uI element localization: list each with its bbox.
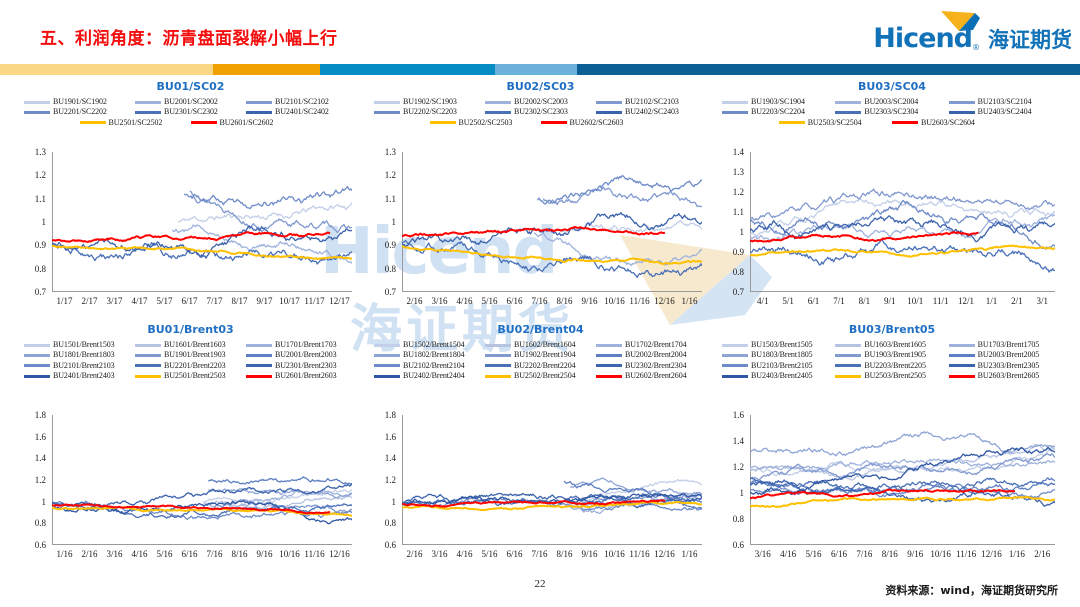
legend-label: BU2501/SC2502 (109, 119, 163, 127)
legend-label: BU2603/Brent2605 (978, 372, 1040, 380)
legend-swatch (485, 375, 511, 378)
legend-item[interactable]: BU2201/SC2202 (24, 107, 135, 117)
chart-cell: BU01/SC02BU1901/SC1902BU2001/SC2002BU210… (18, 80, 363, 320)
band-segment (577, 64, 1080, 75)
legend-label: BU1502/Brent1504 (403, 341, 465, 349)
legend-item[interactable]: BU2001/Brent2003 (246, 350, 357, 360)
legend-item[interactable]: BU1502/Brent1504 (374, 340, 485, 350)
chart-plot-area: 0.60.811.21.41.61.81/162/163/164/165/166… (18, 415, 363, 569)
x-axis-tick-label: 12/16 (981, 549, 1002, 559)
legend-label: BU2402/Brent2404 (403, 372, 465, 380)
legend-label: BU2603/SC2604 (921, 119, 975, 127)
legend-item[interactable]: BU1903/SC1904 (722, 97, 835, 107)
legend-swatch (949, 375, 975, 378)
legend-swatch (485, 344, 511, 347)
legend-swatch (246, 101, 272, 104)
legend-swatch (949, 364, 975, 367)
legend-item[interactable]: BU1901/Brent1903 (135, 350, 246, 360)
chart-legend: BU1901/SC1902BU2001/SC2002BU2101/SC2102B… (18, 97, 363, 128)
legend-label: BU2401/SC2402 (275, 108, 329, 116)
legend-swatch (246, 354, 272, 357)
y-axis-tick-label: 1.2 (716, 462, 744, 472)
charts-grid: BU01/SC02BU1901/SC1902BU2001/SC2002BU210… (0, 80, 1080, 575)
x-axis-tick-label: 10/16 (604, 549, 625, 559)
chart-title: BU02/SC03 (368, 80, 713, 93)
legend-swatch (949, 111, 975, 114)
legend-swatch (892, 121, 918, 124)
legend-label: BU2203/SC2204 (751, 108, 805, 116)
chart-series-line (750, 200, 1055, 249)
legend-swatch (24, 364, 50, 367)
legend-item[interactable]: BU2102/Brent2104 (374, 361, 485, 371)
y-axis-tick-label: 0.9 (18, 240, 46, 250)
chart-cell: BU02/Brent04BU1502/Brent1504BU1602/Brent… (368, 323, 713, 573)
y-axis-tick-label: 0.8 (716, 267, 744, 277)
legend-label: BU2201/SC2202 (53, 108, 107, 116)
chart-legend: BU1501/Brent1503BU1601/Brent1603BU1701/B… (18, 340, 363, 382)
legend-item[interactable]: BU2502/Brent2504 (485, 371, 596, 381)
legend-item[interactable]: BU1802/Brent1804 (374, 350, 485, 360)
legend-item[interactable]: BU2302/Brent2304 (596, 361, 707, 371)
legend-item[interactable]: BU2003/SC2004 (835, 97, 948, 107)
legend-swatch (722, 111, 748, 114)
legend-label: BU2102/SC2103 (625, 98, 679, 106)
legend-item[interactable]: BU1601/Brent1603 (135, 340, 246, 350)
legend-label: BU2303/SC2304 (864, 108, 918, 116)
x-axis-tick-label: 6/16 (181, 549, 197, 559)
y-axis-tick-label: 1.4 (18, 453, 46, 463)
legend-item[interactable]: BU2002/Brent2004 (596, 350, 707, 360)
legend-label: BU1501/Brent1503 (53, 341, 115, 349)
legend-label: BU2601/Brent2603 (275, 372, 337, 380)
legend-swatch (779, 121, 805, 124)
legend-item[interactable]: BU2401/Brent2403 (24, 371, 135, 381)
legend-item[interactable]: BU2503/SC2504 (779, 118, 892, 128)
legend-label: BU1702/Brent1704 (625, 341, 687, 349)
legend-item[interactable]: BU1603/Brent1605 (835, 340, 948, 350)
legend-swatch (246, 344, 272, 347)
x-axis-tick-label: 3/17 (106, 296, 122, 306)
y-axis-tick-label: 1.4 (368, 453, 396, 463)
legend-swatch (374, 354, 400, 357)
x-axis-tick-label: 7/1 (833, 296, 845, 306)
x-axis-tick-label: 11/16 (629, 296, 649, 306)
y-axis-tick-label: 0.8 (18, 518, 46, 528)
legend-swatch (374, 375, 400, 378)
legend-item[interactable]: BU2403/SC2404 (949, 107, 1062, 117)
legend-item[interactable]: BU2303/Brent2305 (949, 361, 1062, 371)
chart-title: BU02/Brent04 (368, 323, 713, 336)
legend-item[interactable]: BU1501/Brent1503 (24, 340, 135, 350)
logo-swoosh-icon (939, 10, 981, 32)
legend-item[interactable]: BU1903/Brent1905 (835, 350, 948, 360)
chart-series-line (52, 242, 352, 263)
x-axis-tick-label: 5/17 (156, 296, 172, 306)
legend-label: BU1601/Brent1603 (164, 341, 226, 349)
legend-label: BU2302/Brent2304 (625, 362, 687, 370)
y-axis-tick-label: 1.2 (18, 475, 46, 485)
x-axis-tick-label: 8/16 (882, 549, 898, 559)
legend-swatch (80, 121, 106, 124)
y-axis-tick-label: 0.6 (18, 540, 46, 550)
band-segment (495, 64, 577, 75)
legend-label: BU2303/Brent2305 (978, 362, 1040, 370)
y-axis-tick-label: 1.6 (716, 410, 744, 420)
legend-label: BU2101/Brent2103 (53, 362, 115, 370)
legend-item[interactable]: BU1902/SC1903 (374, 97, 485, 107)
chart-cell: BU03/Brent05BU1503/Brent1505BU1603/Brent… (716, 323, 1068, 573)
legend-swatch (135, 364, 161, 367)
x-axis-tick-label: 7/16 (531, 296, 547, 306)
x-axis-tick-label: 1/1 (986, 296, 998, 306)
legend-swatch (374, 364, 400, 367)
y-axis-tick-label: 1.2 (716, 187, 744, 197)
legend-swatch (835, 111, 861, 114)
legend-label: BU2301/SC2302 (164, 108, 218, 116)
y-axis-tick-label: 1.2 (18, 170, 46, 180)
y-axis-tick-label: 0.9 (368, 240, 396, 250)
legend-item[interactable]: BU2503/Brent2505 (835, 371, 948, 381)
y-axis-tick-label: 1 (368, 497, 396, 507)
legend-swatch (596, 364, 622, 367)
header-color-band (0, 64, 1080, 75)
legend-item[interactable]: BU2603/Brent2605 (949, 371, 1062, 381)
slide-header: 五、利润角度：沥青盘面裂解小幅上行 Hicend® 海证期货 (0, 0, 1080, 58)
chart-canvas (750, 152, 1055, 292)
chart-plot-area: 0.70.80.911.11.21.31.44/15/16/17/18/19/1… (716, 152, 1068, 316)
legend-swatch (24, 354, 50, 357)
legend-label: BU2403/SC2404 (978, 108, 1032, 116)
chart-title: BU03/Brent05 (716, 323, 1068, 336)
legend-swatch (541, 121, 567, 124)
legend-label: BU2003/SC2004 (864, 98, 918, 106)
legend-swatch (135, 101, 161, 104)
x-axis-tick-label: 1/16 (681, 296, 697, 306)
legend-swatch (191, 121, 217, 124)
x-axis-tick-label: 12/16 (654, 549, 675, 559)
x-axis-tick-label: 12/16 (329, 549, 350, 559)
legend-label: BU2202/SC2203 (403, 108, 457, 116)
x-axis-tick-label: 1/16 (1009, 549, 1025, 559)
x-axis-tick-label: 6/16 (506, 549, 522, 559)
x-axis-tick-label: 1/17 (56, 296, 72, 306)
legend-item[interactable]: BU2101/SC2102 (246, 97, 357, 107)
x-axis-tick-label: 10/1 (907, 296, 923, 306)
band-segment (320, 64, 495, 75)
y-axis-tick-label: 0.8 (368, 264, 396, 274)
legend-item[interactable]: BU1902/Brent1904 (485, 350, 596, 360)
legend-item[interactable]: BU1701/Brent1703 (246, 340, 357, 350)
legend-item[interactable]: BU2401/SC2402 (246, 107, 357, 117)
y-axis-tick-label: 0.8 (18, 264, 46, 274)
x-axis-tick-label: 5/16 (806, 549, 822, 559)
legend-label: BU2202/Brent2204 (514, 362, 576, 370)
legend-swatch (24, 344, 50, 347)
x-axis-tick-label: 5/1 (782, 296, 794, 306)
legend-item[interactable]: BU2502/SC2503 (430, 118, 541, 128)
chart-series-line (178, 202, 352, 221)
legend-label: BU2302/SC2303 (514, 108, 568, 116)
chart-legend: BU1903/SC1904BU2003/SC2004BU2103/SC2104B… (716, 97, 1068, 128)
chart-plot-area: 0.60.811.21.41.63/164/165/166/167/168/16… (716, 415, 1068, 569)
legend-label: BU2301/Brent2303 (275, 362, 337, 370)
x-axis-tick-label: 11/17 (304, 296, 324, 306)
y-axis-tick-label: 1.4 (716, 147, 744, 157)
legend-label: BU2203/Brent2205 (864, 362, 926, 370)
legend-label: BU2002/SC2003 (514, 98, 568, 106)
legend-swatch (485, 364, 511, 367)
y-axis-tick-label: 1.2 (368, 475, 396, 485)
legend-swatch (485, 354, 511, 357)
legend-label: BU2502/Brent2504 (514, 372, 576, 380)
legend-swatch (374, 344, 400, 347)
x-axis-tick-label: 2/1 (1011, 296, 1023, 306)
chart-canvas (402, 415, 702, 545)
legend-item[interactable]: BU2402/Brent2404 (374, 371, 485, 381)
chart-series-line (750, 478, 1055, 490)
x-axis-tick-label: 2/16 (406, 296, 422, 306)
x-axis-tick-label: 8/1 (859, 296, 871, 306)
legend-swatch (835, 364, 861, 367)
x-axis-tick-label: 7/16 (531, 549, 547, 559)
x-axis-tick-label: 6/16 (506, 296, 522, 306)
legend-item[interactable]: BU2103/Brent2105 (722, 361, 835, 371)
legend-item[interactable]: BU2601/Brent2603 (246, 371, 357, 381)
y-axis-tick-label: 1 (18, 497, 46, 507)
x-axis-tick-label: 10/17 (279, 296, 300, 306)
legend-item[interactable]: BU2402/SC2403 (596, 107, 707, 117)
x-axis-tick-label: 11/1 (933, 296, 949, 306)
chart-series-line (52, 226, 352, 258)
chart-cell: BU03/SC04BU1903/SC1904BU2003/SC2004BU210… (716, 80, 1068, 320)
band-segment (213, 64, 320, 75)
y-axis-tick-label: 0.7 (716, 287, 744, 297)
legend-swatch (835, 344, 861, 347)
legend-label: BU2001/SC2002 (164, 98, 218, 106)
legend-swatch (135, 354, 161, 357)
legend-swatch (246, 375, 272, 378)
legend-swatch (135, 375, 161, 378)
legend-swatch (135, 111, 161, 114)
legend-swatch (24, 101, 50, 104)
y-axis-tick-label: 1.2 (368, 170, 396, 180)
legend-item[interactable]: BU2601/SC2602 (191, 118, 302, 128)
y-axis-tick-label: 1.6 (18, 432, 46, 442)
chart-series-line (750, 432, 1055, 456)
legend-swatch (485, 111, 511, 114)
legend-label: BU2401/Brent2403 (53, 372, 115, 380)
x-axis-tick-label: 9/16 (256, 549, 272, 559)
y-axis-tick-label: 0.8 (716, 514, 744, 524)
chart-plot-area: 0.70.80.911.11.21.31/172/173/174/175/176… (18, 152, 363, 316)
legend-label: BU2201/Brent2203 (164, 362, 226, 370)
legend-label: BU1802/Brent1804 (403, 351, 465, 359)
legend-swatch (135, 344, 161, 347)
legend-label: BU1902/Brent1904 (514, 351, 576, 359)
x-axis-tick-label: 11/16 (956, 549, 976, 559)
legend-label: BU2502/SC2503 (459, 119, 513, 127)
legend-item[interactable]: BU1901/SC1902 (24, 97, 135, 107)
legend-swatch (246, 364, 272, 367)
legend-label: BU1903/SC1904 (751, 98, 805, 106)
legend-swatch (835, 375, 861, 378)
legend-item[interactable]: BU1602/Brent1604 (485, 340, 596, 350)
legend-swatch (596, 111, 622, 114)
legend-swatch (24, 375, 50, 378)
legend-swatch (596, 375, 622, 378)
y-axis-tick-label: 0.6 (368, 540, 396, 550)
legend-item[interactable]: BU2202/SC2203 (374, 107, 485, 117)
x-axis-tick-label: 7/16 (206, 549, 222, 559)
x-axis-tick-label: 11/16 (304, 549, 324, 559)
chart-title: BU01/Brent03 (18, 323, 363, 336)
x-axis-tick-label: 7/16 (856, 549, 872, 559)
chart-series-line (184, 187, 352, 209)
legend-item[interactable]: BU1703/Brent1705 (949, 340, 1062, 350)
logo-wordmark: Hicend® (873, 25, 979, 52)
x-axis-tick-label: 9/16 (581, 296, 597, 306)
chart-canvas (52, 415, 352, 545)
chart-canvas (402, 152, 702, 292)
y-axis-tick-label: 0.7 (368, 287, 396, 297)
y-axis-tick-label: 1 (18, 217, 46, 227)
x-axis-tick-label: 6/1 (808, 296, 820, 306)
x-axis-tick-label: 8/16 (231, 549, 247, 559)
legend-swatch (596, 101, 622, 104)
legend-item[interactable]: BU2002/SC2003 (485, 97, 596, 107)
legend-item[interactable]: BU1803/Brent1805 (722, 350, 835, 360)
x-axis-tick-label: 1/16 (681, 549, 697, 559)
x-axis-tick-label: 9/16 (581, 549, 597, 559)
legend-label: BU2403/Brent2405 (751, 372, 813, 380)
y-axis-tick-label: 0.6 (716, 540, 744, 550)
page-title: 五、利润角度：沥青盘面裂解小幅上行 (40, 24, 338, 49)
legend-label: BU2003/Brent2005 (978, 351, 1040, 359)
legend-label: BU2001/Brent2003 (275, 351, 337, 359)
legend-swatch (835, 101, 861, 104)
legend-item[interactable]: BU2301/SC2302 (135, 107, 246, 117)
x-axis-tick-label: 9/1 (884, 296, 896, 306)
legend-item[interactable]: BU1702/Brent1704 (596, 340, 707, 350)
legend-swatch (949, 354, 975, 357)
x-axis-tick-label: 4/16 (131, 549, 147, 559)
legend-label: BU1703/Brent1705 (978, 341, 1040, 349)
legend-label: BU2501/Brent2503 (164, 372, 226, 380)
chart-legend: BU1502/Brent1504BU1602/Brent1604BU1702/B… (368, 340, 713, 382)
legend-swatch (485, 101, 511, 104)
x-axis-tick-label: 6/17 (181, 296, 197, 306)
legend-swatch (430, 121, 456, 124)
chart-series-line (208, 477, 352, 485)
legend-swatch (722, 354, 748, 357)
legend-swatch (246, 111, 272, 114)
legend-item[interactable]: BU2501/SC2502 (80, 118, 191, 128)
legend-label: BU2103/Brent2105 (751, 362, 813, 370)
legend-swatch (722, 101, 748, 104)
legend-item[interactable]: BU2202/Brent2204 (485, 361, 596, 371)
legend-item[interactable]: BU2603/SC2604 (892, 118, 1005, 128)
y-axis-tick-label: 0.7 (18, 287, 46, 297)
y-axis-tick-label: 1.3 (368, 147, 396, 157)
legend-swatch (835, 354, 861, 357)
x-axis-tick-label: 8/16 (556, 549, 572, 559)
legend-item[interactable]: BU2101/Brent2103 (24, 361, 135, 371)
legend-item[interactable]: BU2602/Brent2604 (596, 371, 707, 381)
legend-item[interactable]: BU2501/Brent2503 (135, 371, 246, 381)
x-axis-tick-label: 5/16 (481, 296, 497, 306)
legend-item[interactable]: BU2602/SC2603 (541, 118, 652, 128)
chart-cell: BU01/Brent03BU1501/Brent1503BU1601/Brent… (18, 323, 363, 573)
legend-label: BU2002/Brent2004 (625, 351, 687, 359)
legend-item[interactable]: BU2301/Brent2303 (246, 361, 357, 371)
x-axis-tick-label: 2/17 (81, 296, 97, 306)
legend-item[interactable]: BU2003/Brent2005 (949, 350, 1062, 360)
legend-label: BU1603/Brent1605 (864, 341, 926, 349)
legend-item[interactable]: BU2203/Brent2205 (835, 361, 948, 371)
x-axis-tick-label: 8/17 (231, 296, 247, 306)
legend-item[interactable]: BU2103/SC2104 (949, 97, 1062, 107)
chart-series-line (208, 489, 352, 498)
y-axis-tick-label: 0.8 (368, 518, 396, 528)
x-axis-tick-label: 3/16 (755, 549, 771, 559)
legend-item[interactable]: BU2201/Brent2203 (135, 361, 246, 371)
y-axis-tick-label: 1.8 (368, 410, 396, 420)
x-axis-tick-label: 6/16 (831, 549, 847, 559)
y-axis-tick-label: 1.1 (368, 194, 396, 204)
chart-series-line (750, 497, 1055, 507)
legend-item[interactable]: BU2203/SC2204 (722, 107, 835, 117)
x-axis-tick-label: 3/16 (431, 549, 447, 559)
chart-cell: BU02/SC03BU1902/SC1903BU2002/SC2003BU210… (368, 80, 713, 320)
x-axis-tick-label: 9/16 (907, 549, 923, 559)
band-segment (0, 64, 213, 75)
legend-label: BU2101/SC2102 (275, 98, 329, 106)
legend-label: BU1503/Brent1505 (751, 341, 813, 349)
legend-swatch (949, 101, 975, 104)
legend-label: BU1901/SC1902 (53, 98, 107, 106)
legend-item[interactable]: BU2102/SC2103 (596, 97, 707, 107)
legend-label: BU1803/Brent1805 (751, 351, 813, 359)
y-axis-tick-label: 1.8 (18, 410, 46, 420)
x-axis-tick-label: 12/1 (958, 296, 974, 306)
chart-title: BU03/SC04 (716, 80, 1068, 93)
chart-plot-area: 0.70.80.911.11.21.32/163/164/165/166/167… (368, 152, 713, 316)
legend-item[interactable]: BU1503/Brent1505 (722, 340, 835, 350)
legend-swatch (24, 111, 50, 114)
x-axis-tick-label: 10/16 (279, 549, 300, 559)
y-axis-tick-label: 1.3 (716, 167, 744, 177)
logo-registered-icon: ® (972, 43, 979, 52)
chart-canvas (52, 152, 352, 292)
x-axis-tick-label: 5/16 (156, 549, 172, 559)
chart-plot-area: 0.60.811.21.41.61.82/163/164/165/166/167… (368, 415, 713, 569)
x-axis-tick-label: 7/17 (206, 296, 222, 306)
legend-label: BU2402/SC2403 (625, 108, 679, 116)
x-axis-tick-label: 3/1 (1037, 296, 1049, 306)
x-axis-tick-label: 10/16 (930, 549, 951, 559)
legend-item[interactable]: BU2001/SC2002 (135, 97, 246, 107)
legend-item[interactable]: BU1801/Brent1803 (24, 350, 135, 360)
legend-swatch (949, 344, 975, 347)
y-axis-tick-label: 1.1 (716, 207, 744, 217)
legend-item[interactable]: BU2403/Brent2405 (722, 371, 835, 381)
legend-item[interactable]: BU2302/SC2303 (485, 107, 596, 117)
legend-swatch (722, 344, 748, 347)
source-note: 资料来源：wind，海证期货研究所 (885, 582, 1058, 598)
x-axis-tick-label: 8/16 (556, 296, 572, 306)
legend-item[interactable]: BU2303/SC2304 (835, 107, 948, 117)
x-axis-tick-label: 3/16 (106, 549, 122, 559)
